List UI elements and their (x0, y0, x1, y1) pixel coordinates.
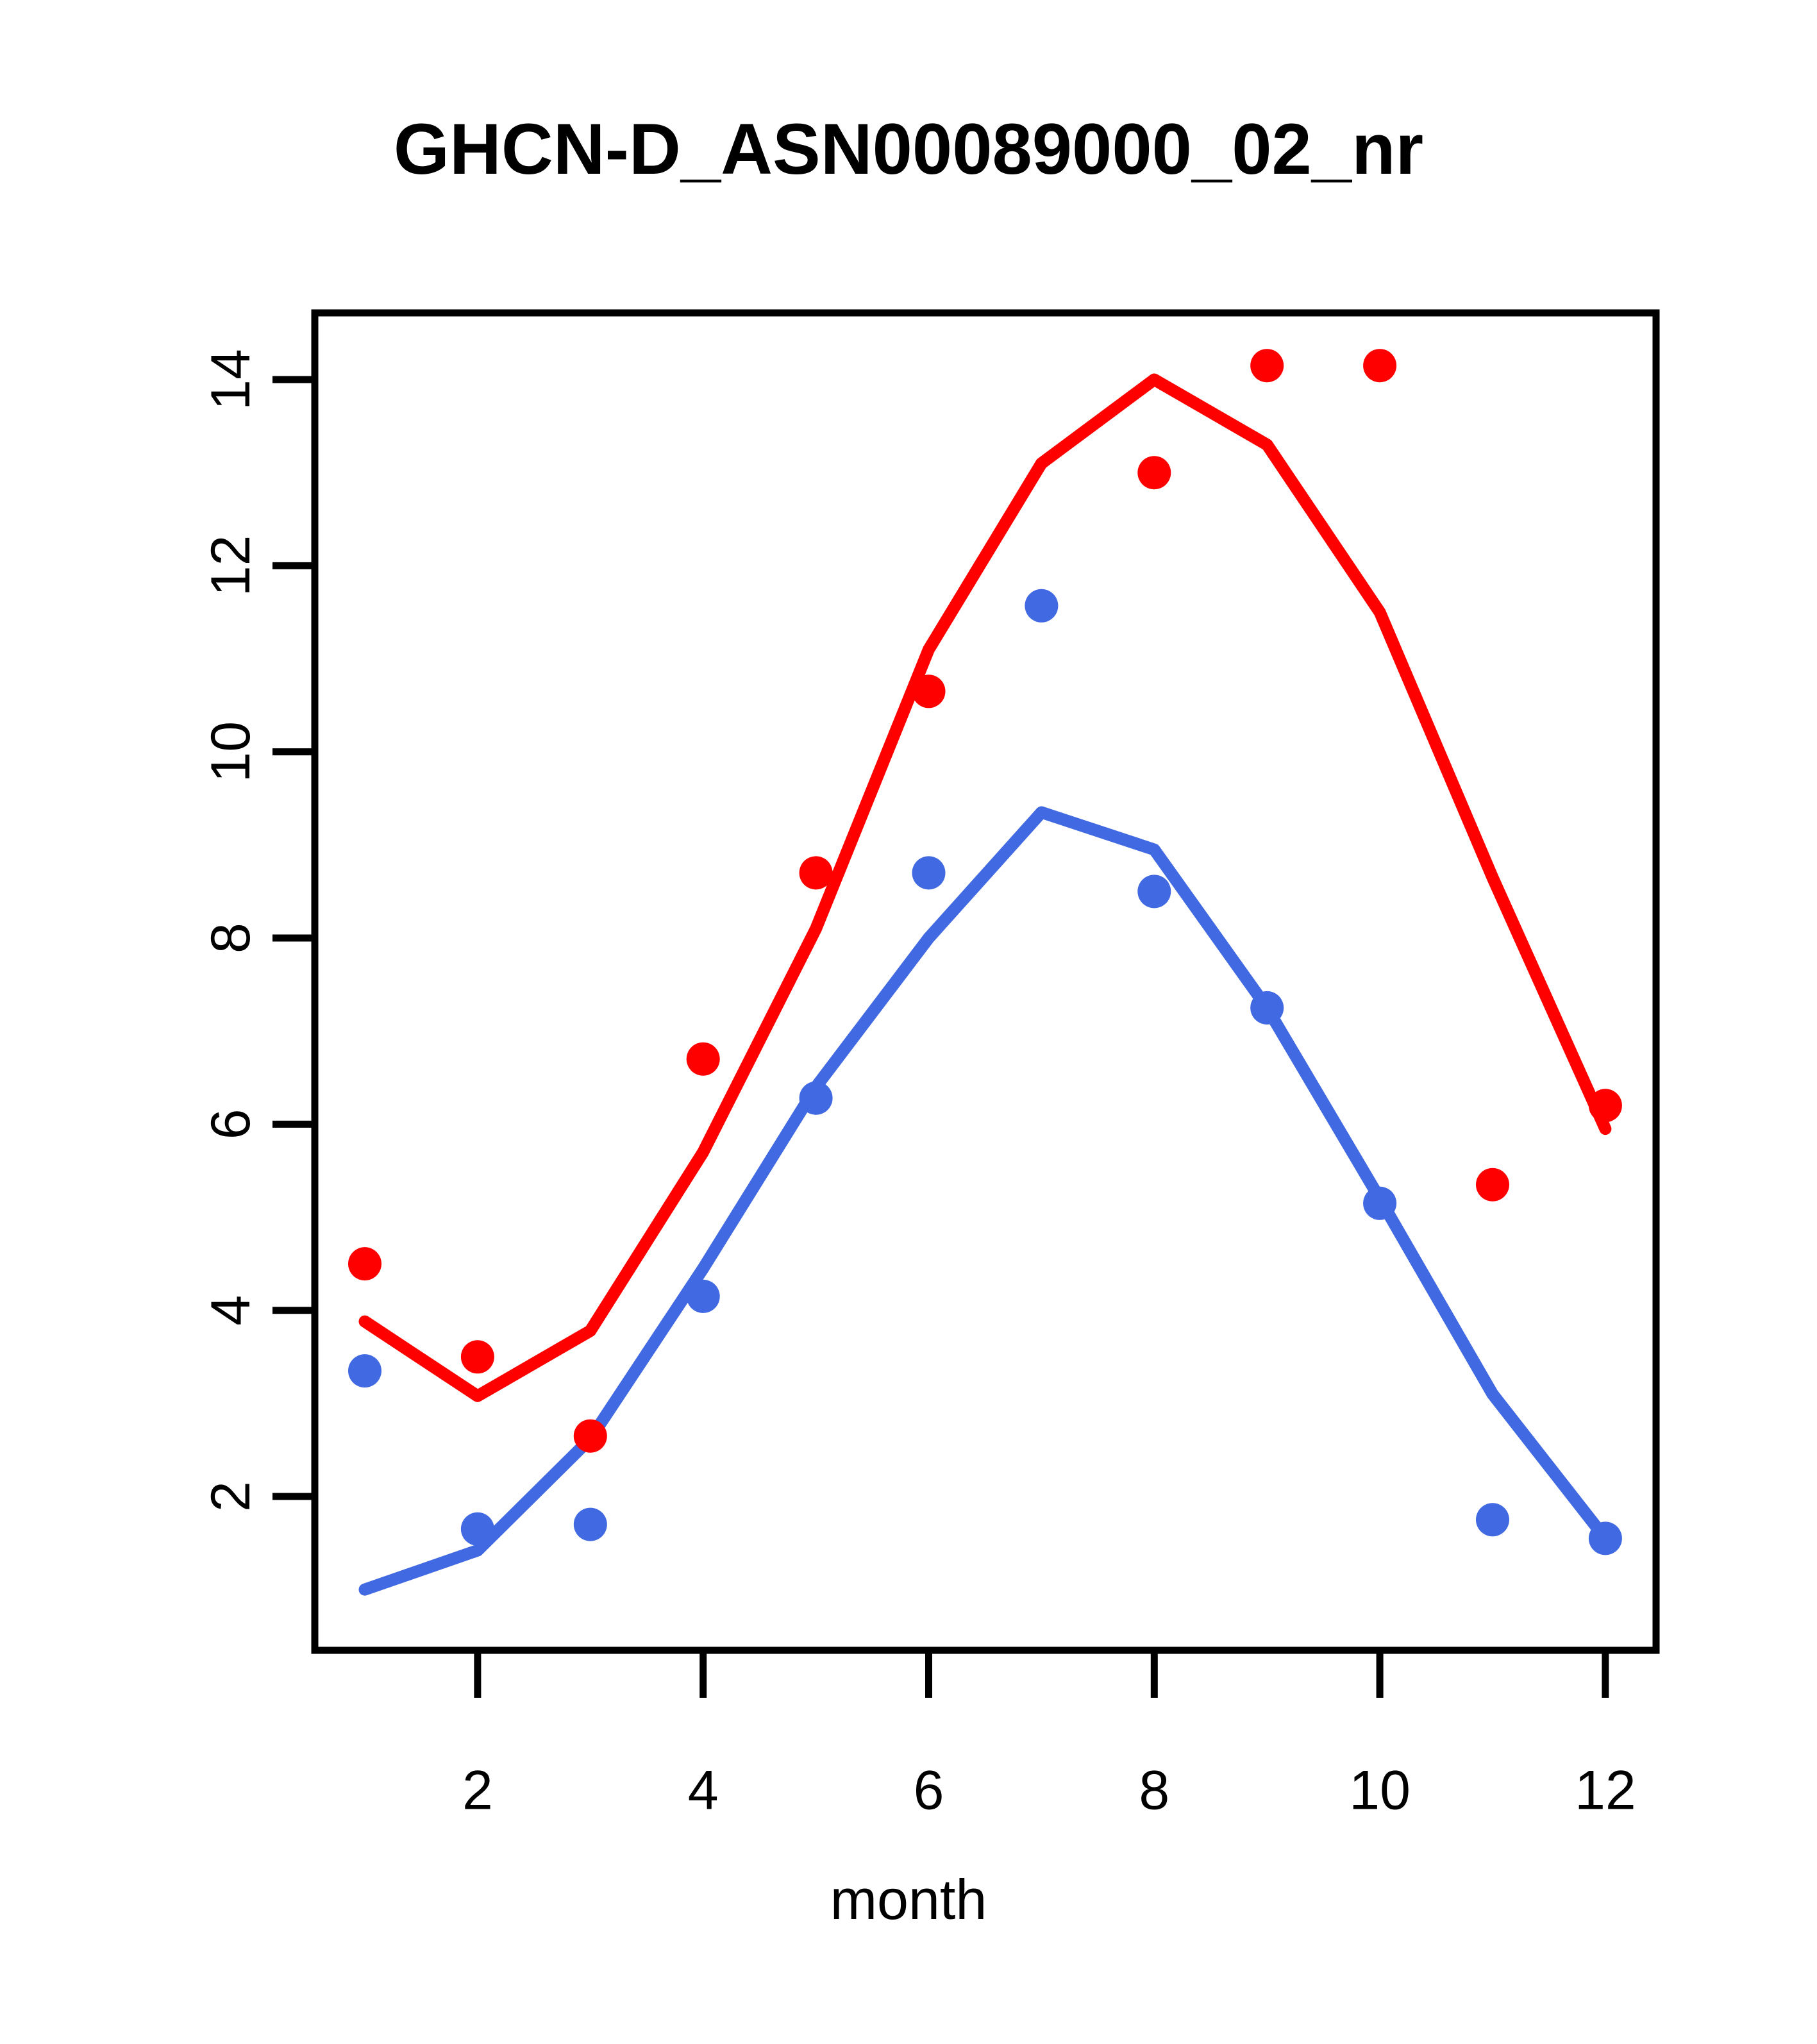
x-axis-label: month (0, 1867, 1817, 1932)
data-point-red-points (1250, 349, 1284, 382)
chart-plot-area: 2468101214 24681012 (0, 0, 1817, 2044)
series-line-blue-line (365, 812, 1605, 1589)
data-point-red-points (1137, 456, 1171, 489)
x-axis-ticks: 24681012 (462, 1650, 1636, 1822)
chart-svg: 2468101214 24681012 (0, 0, 1817, 2044)
data-point-red-points (1363, 349, 1396, 382)
y-tick-label: 4 (200, 1295, 262, 1326)
data-point-red-points (574, 1420, 607, 1453)
data-point-blue-points (800, 1082, 833, 1115)
data-point-blue-points (574, 1508, 607, 1541)
data-point-blue-points (1363, 1187, 1396, 1220)
x-tick-label: 12 (1575, 1760, 1636, 1822)
y-tick-label: 12 (200, 535, 262, 597)
y-tick-label: 14 (200, 349, 262, 410)
data-point-red-points (461, 1340, 494, 1373)
y-tick-label: 8 (200, 923, 262, 953)
data-point-blue-points (461, 1512, 494, 1546)
data-point-red-points (912, 674, 946, 708)
data-point-red-points (800, 856, 833, 889)
data-point-blue-points (1250, 991, 1284, 1025)
x-tick-label: 2 (462, 1760, 493, 1822)
y-axis-ticks: 2468101214 (200, 349, 315, 1512)
x-tick-label: 10 (1349, 1760, 1411, 1822)
x-tick-label: 4 (688, 1760, 719, 1822)
series-line-red-line (365, 380, 1605, 1396)
data-point-blue-points (1589, 1521, 1622, 1555)
data-point-blue-points (912, 856, 946, 889)
data-point-blue-points (687, 1280, 720, 1313)
y-tick-label: 6 (200, 1109, 262, 1139)
chart-page: GHCN-D_ASN00089000_02_nr 2468101214 2468… (0, 0, 1817, 2044)
x-tick-label: 8 (1139, 1760, 1169, 1822)
y-tick-label: 2 (200, 1481, 262, 1512)
data-point-blue-points (1025, 589, 1058, 623)
x-tick-label: 6 (914, 1760, 944, 1822)
y-tick-label: 10 (200, 721, 262, 783)
data-point-red-points (1476, 1168, 1509, 1202)
data-point-blue-points (1476, 1503, 1509, 1536)
chart-series (348, 349, 1622, 1589)
data-point-blue-points (348, 1354, 381, 1387)
data-point-blue-points (1137, 875, 1171, 908)
data-point-red-points (1589, 1089, 1622, 1122)
plot-box (315, 313, 1656, 1650)
data-point-red-points (348, 1247, 381, 1280)
data-point-red-points (687, 1043, 720, 1076)
